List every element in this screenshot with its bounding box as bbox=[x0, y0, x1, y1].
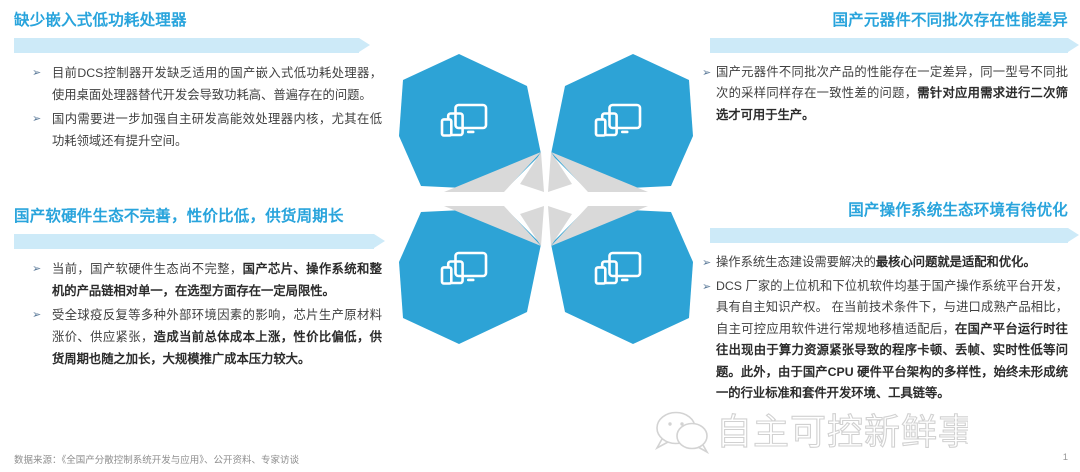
bullet-text: 国内需要进一步加强自主研发高能效处理器内核，尤其在低功耗领域还有提升空间。 bbox=[52, 108, 382, 152]
title-arrow-bar bbox=[710, 38, 1068, 53]
arrow-bullet-icon: ➢ bbox=[30, 62, 52, 84]
arrow-bullet-icon: ➢ bbox=[702, 252, 716, 274]
title-arrow-bar bbox=[14, 38, 359, 53]
title-arrow-bar bbox=[14, 234, 374, 249]
list-item: ➢ 受全球疫反复等多种外部环境因素的影响，芯片生产原材料涨价、供应紧张，造成当前… bbox=[30, 304, 382, 370]
title-arrow-bar bbox=[710, 228, 1068, 243]
arrow-bullet-icon: ➢ bbox=[30, 304, 52, 326]
bullet-text: 操作系统生态建设需要解决的最核心问题就是适配和优化。 bbox=[716, 252, 1068, 274]
list-item: ➢ 操作系统生态建设需要解决的最核心问题就是适配和优化。 bbox=[702, 252, 1068, 274]
block-title: 国产软硬件生态不完善，性价比低，供货周期长 bbox=[14, 208, 384, 227]
arrow-bullet-icon: ➢ bbox=[702, 62, 716, 84]
list-item: ➢ 国产元器件不同批次产品的性能存在一定差异，同一型号不同批次的采样同样存在一致… bbox=[702, 62, 1068, 127]
watermark-text: 自主可控新鲜事 bbox=[716, 411, 968, 452]
watermark: 自主可控新鲜事 bbox=[648, 398, 968, 460]
bullet-text: DCS 厂家的上位机和下位机软件均基于国产操作系统平台开发，具有自主知识产权。 … bbox=[716, 276, 1068, 405]
footer-source-note: 数据来源：《全国产分散控制系统开发与应用》、公开资料、专家访谈 bbox=[14, 452, 299, 466]
list-item: ➢ DCS 厂家的上位机和下位机软件均基于国产操作系统平台开发，具有自主知识产权… bbox=[702, 276, 1068, 405]
list-item: ➢ 国内需要进一步加强自主研发高能效处理器内核，尤其在低功耗领域还有提升空间。 bbox=[30, 108, 382, 152]
bullet-text: 目前DCS控制器开发缺乏适用的国产嵌入式低功耗处理器，使用桌面处理器替代开发会导… bbox=[52, 62, 382, 106]
bullet-text: 当前，国产软硬件生态尚不完整，国产芯片、操作系统和整机的产品链相对单一，在选型方… bbox=[52, 258, 382, 302]
hexagon-top-left bbox=[399, 54, 544, 192]
arrow-bullet-icon: ➢ bbox=[702, 276, 716, 298]
block-bottom-left: 国产软硬件生态不完善，性价比低，供货周期长 ➢ 当前，国产软硬件生态尚不完整，国… bbox=[14, 208, 384, 372]
page-number: 1 bbox=[1063, 452, 1068, 463]
block-top-right: 国产元器件不同批次存在性能差异 ➢ 国产元器件不同批次产品的性能存在一定差异，同… bbox=[700, 12, 1068, 128]
arrow-bullet-icon: ➢ bbox=[30, 258, 52, 280]
list-item: ➢ 目前DCS控制器开发缺乏适用的国产嵌入式低功耗处理器，使用桌面处理器替代开发… bbox=[30, 62, 382, 106]
bullet-list: ➢ 当前，国产软硬件生态尚不完整，国产芯片、操作系统和整机的产品链相对单一，在选… bbox=[14, 258, 384, 370]
block-top-left: 缺少嵌入式低功耗处理器 ➢ 目前DCS控制器开发缺乏适用的国产嵌入式低功耗处理器… bbox=[14, 12, 384, 154]
hexagon-bottom-right bbox=[548, 206, 693, 344]
bullet-text: 国产元器件不同批次产品的性能存在一定差异，同一型号不同批次的采样同样存在一致性差… bbox=[716, 62, 1068, 127]
list-item: ➢ 当前，国产软硬件生态尚不完整，国产芯片、操作系统和整机的产品链相对单一，在选… bbox=[30, 258, 382, 302]
center-hexagon-graphic bbox=[398, 44, 694, 394]
bullet-text: 受全球疫反复等多种外部环境因素的影响，芯片生产原材料涨价、供应紧张，造成当前总体… bbox=[52, 304, 382, 370]
hexagon-bottom-left bbox=[399, 206, 544, 344]
arrow-bullet-icon: ➢ bbox=[30, 108, 52, 130]
slide-canvas: 缺少嵌入式低功耗处理器 ➢ 目前DCS控制器开发缺乏适用的国产嵌入式低功耗处理器… bbox=[0, 0, 1080, 472]
wechat-logo bbox=[657, 413, 707, 453]
hexagon-top-right bbox=[548, 54, 693, 192]
bullet-list: ➢ 国产元器件不同批次产品的性能存在一定差异，同一型号不同批次的采样同样存在一致… bbox=[700, 62, 1068, 127]
block-bottom-right: 国产操作系统生态环境有待优化 ➢ 操作系统生态建设需要解决的最核心问题就是适配和… bbox=[700, 202, 1068, 407]
block-title: 缺少嵌入式低功耗处理器 bbox=[14, 12, 384, 31]
block-title: 国产元器件不同批次存在性能差异 bbox=[700, 12, 1068, 31]
bullet-list: ➢ 操作系统生态建设需要解决的最核心问题就是适配和优化。 ➢ DCS 厂家的上位… bbox=[700, 252, 1068, 405]
bullet-list: ➢ 目前DCS控制器开发缺乏适用的国产嵌入式低功耗处理器，使用桌面处理器替代开发… bbox=[14, 62, 384, 152]
block-title: 国产操作系统生态环境有待优化 bbox=[700, 202, 1068, 221]
